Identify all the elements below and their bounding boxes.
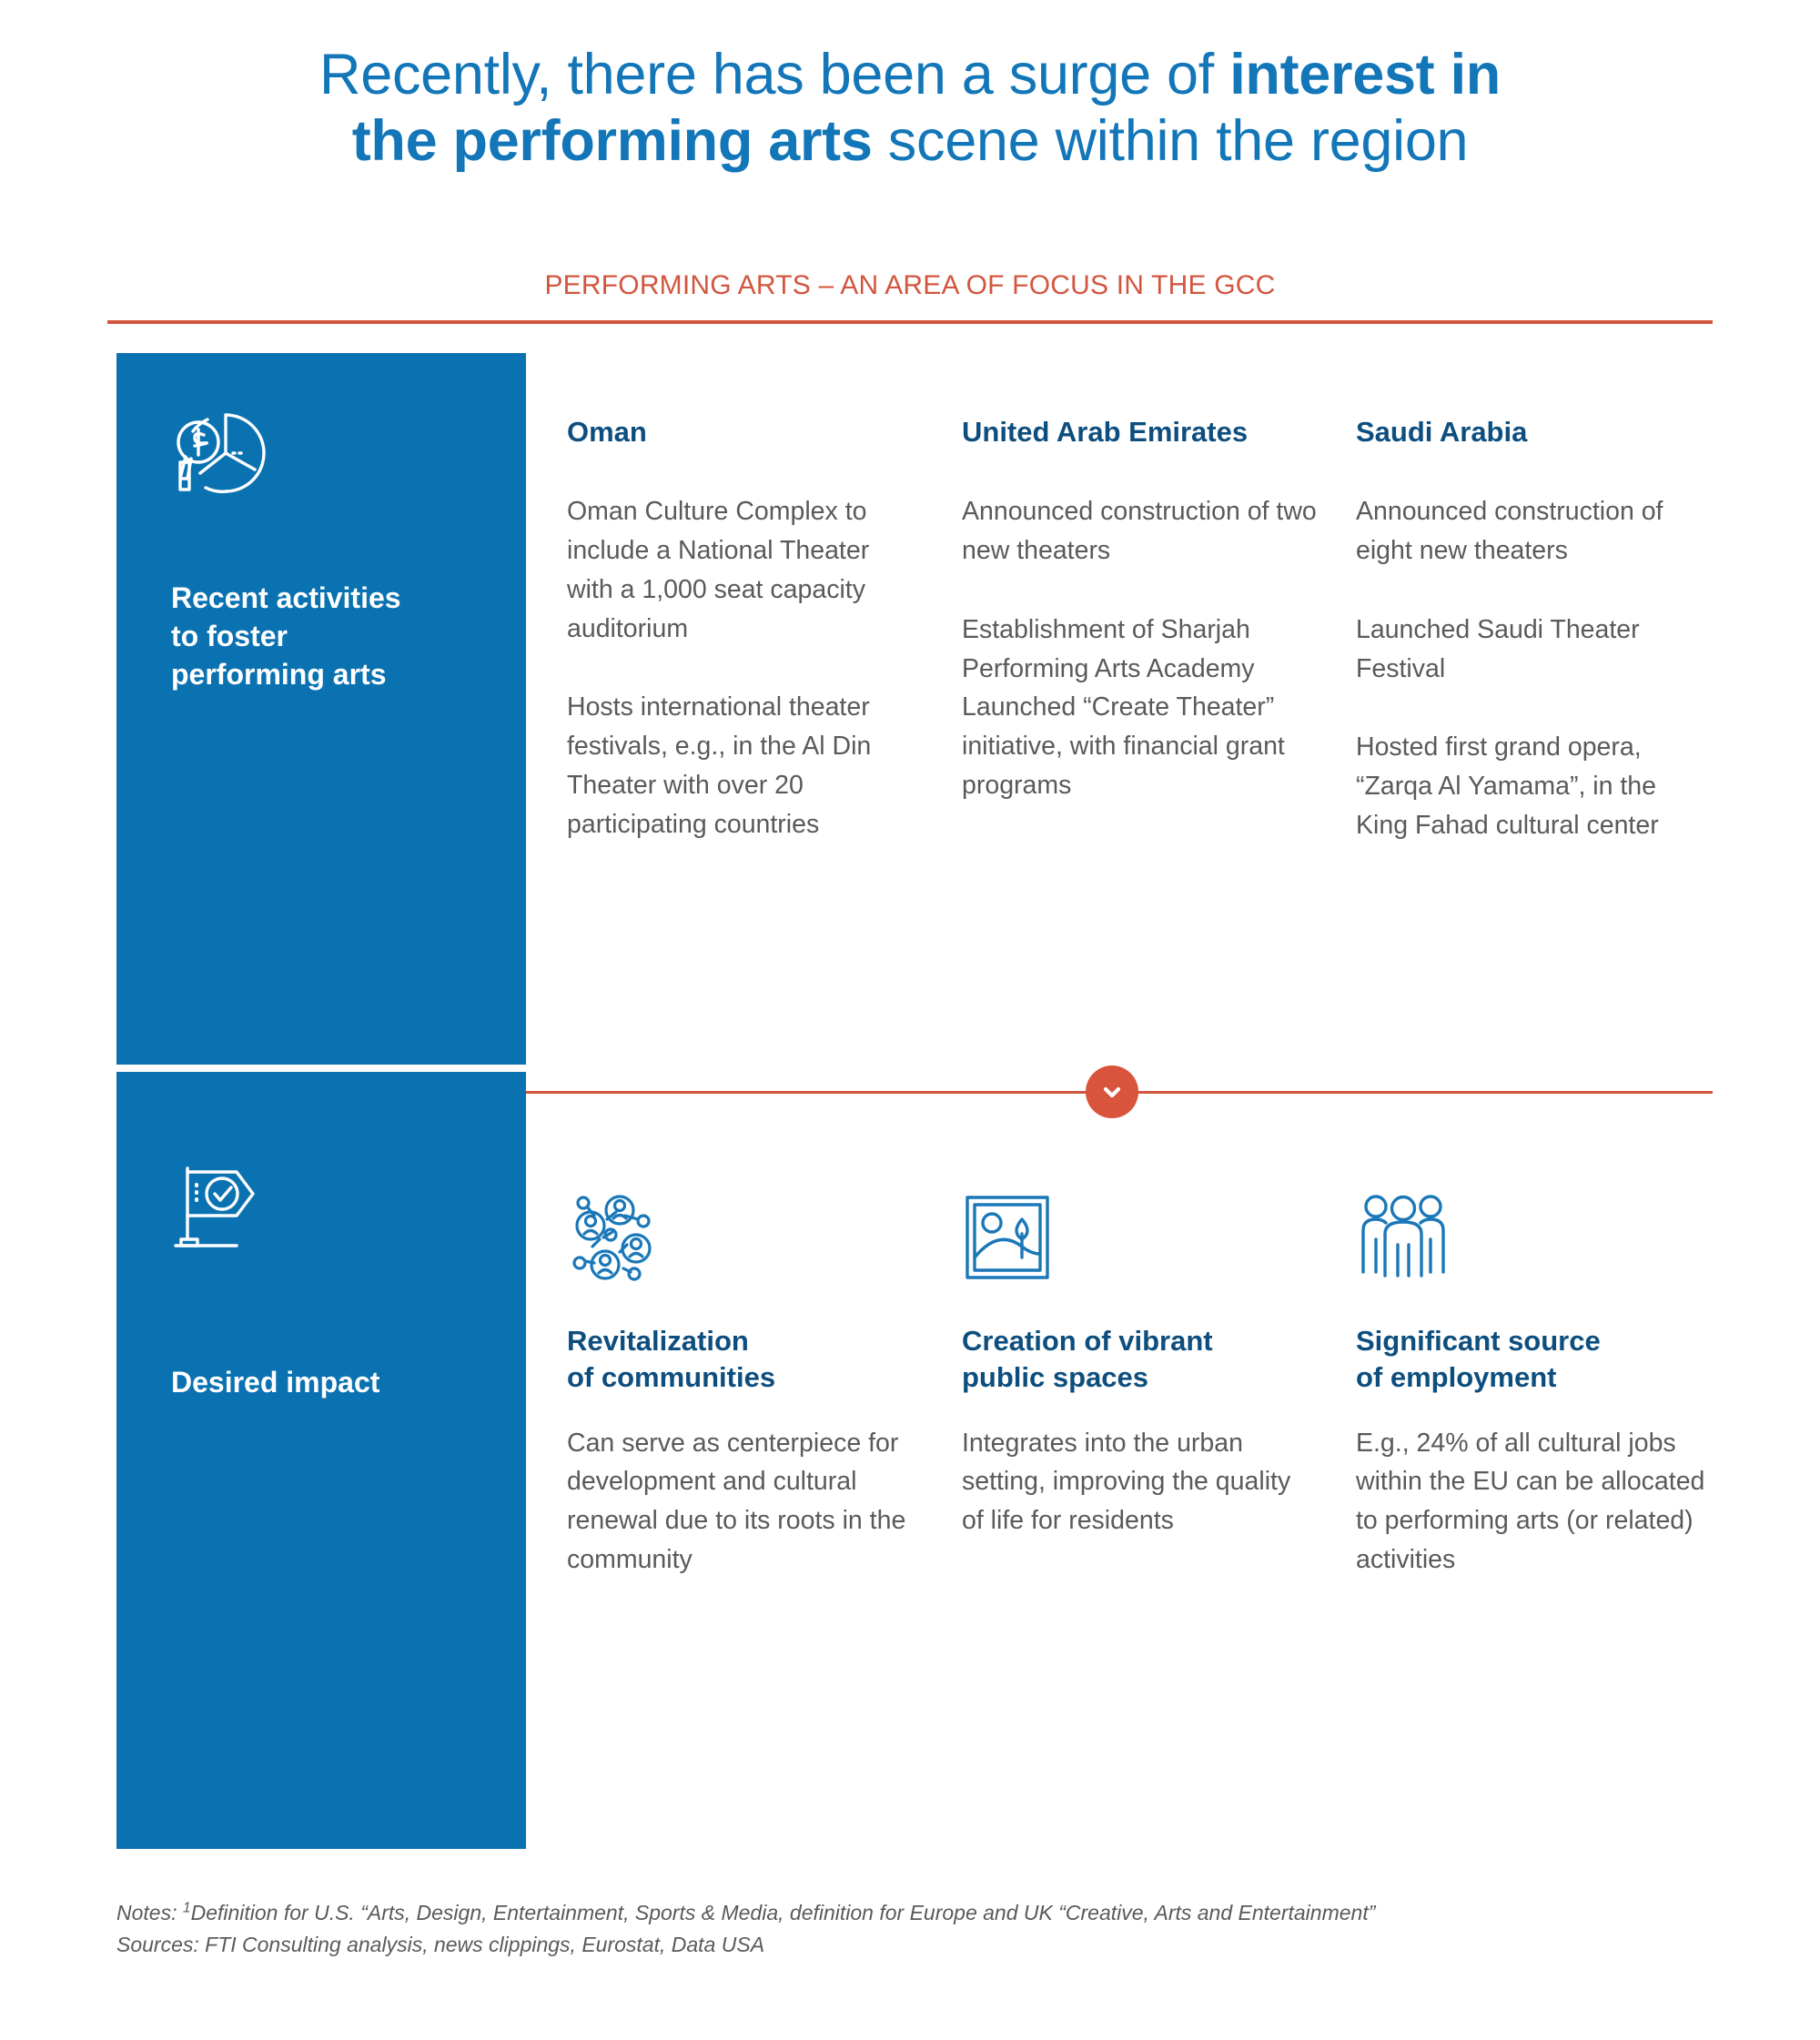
footnotes: Notes: 1Definition for U.S. “Arts, Desig… [116,1897,1390,1961]
flag-check-icon [171,1163,269,1255]
column-revitalization: Revitalization of communities Can serve … [567,1192,922,1580]
chevron-down-badge[interactable] [1086,1065,1138,1118]
landscape-picture-icon [962,1192,1317,1287]
page-title-line-2: the performing arts scene within the reg… [0,108,1820,175]
column-saudi-arabia-paragraph-1: Announced construction of eight new thea… [1356,492,1711,571]
column-oman-heading: Oman [567,414,922,450]
column-public-spaces-paragraph-1: Integrates into the urban setting, impro… [962,1424,1317,1540]
chevron-down-icon [1099,1079,1125,1105]
panel-recent-activities-label: Recent activities to foster performing a… [171,579,401,694]
footnote-notes: Notes: 1Definition for U.S. “Arts, Desig… [116,1897,1390,1929]
column-uae-paragraph-1: Announced construction of two new theate… [962,492,1317,571]
column-public-spaces-heading: Creation of vibrant public spaces [962,1323,1317,1397]
column-saudi-arabia-heading: Saudi Arabia [1356,414,1711,450]
page-title: Recently, there has been a surge of inte… [0,42,1820,175]
column-oman-paragraph-1: Oman Culture Complex to include a Nation… [567,492,922,648]
column-saudi-arabia-paragraph-3: Hosted first grand opera, “Zarqa Al Yama… [1356,728,1711,844]
magnifier-dollar-pie-chart-icon [171,406,269,509]
footnote-superscript: 1 [183,1900,191,1915]
header-divider-rule [107,320,1713,324]
page-title-line-1: Recently, there has been a surge of inte… [0,42,1820,108]
footnote-sources: Sources: FTI Consulting analysis, news c… [116,1929,1390,1961]
section-kicker: PERFORMING ARTS – AN AREA OF FOCUS IN TH… [0,270,1820,301]
column-uae: United Arab Emirates Announced construct… [962,414,1317,805]
panel-desired-impact: Desired impact [116,1072,526,1849]
column-saudi-arabia-paragraph-2: Launched Saudi Theater Festival [1356,611,1711,689]
column-saudi-arabia: Saudi Arabia Announced construction of e… [1356,414,1711,845]
panel-desired-impact-label: Desired impact [171,1363,379,1401]
panel-recent-activities: Recent activities to foster performing a… [116,353,526,1065]
column-oman: Oman Oman Culture Complex to include a N… [567,414,922,843]
column-uae-paragraph-2: Establishment of Sharjah Performing Arts… [962,611,1317,805]
three-people-icon [1356,1192,1711,1287]
footnote-notes-text: Definition for U.S. “Arts, Design, Enter… [191,1901,1376,1924]
column-uae-heading: United Arab Emirates [962,414,1317,450]
footnote-notes-prefix: Notes: [116,1901,183,1924]
network-people-icon [567,1192,922,1287]
title-line2-bold: the performing arts [352,109,873,173]
column-oman-paragraph-2: Hosts international theater festivals, e… [567,688,922,843]
column-employment-paragraph-1: E.g., 24% of all cultural jobs within th… [1356,1424,1711,1580]
column-revitalization-heading: Revitalization of communities [567,1323,922,1397]
column-public-spaces: Creation of vibrant public spaces Integr… [962,1192,1317,1540]
title-line1-bold: interest in [1229,43,1501,106]
column-employment: Significant source of employment E.g., 2… [1356,1192,1711,1580]
title-line1-normal: Recently, there has been a surge of [319,43,1229,106]
column-revitalization-paragraph-1: Can serve as centerpiece for development… [567,1424,922,1580]
title-line2-normal: scene within the region [873,109,1469,173]
column-employment-heading: Significant source of employment [1356,1323,1711,1397]
